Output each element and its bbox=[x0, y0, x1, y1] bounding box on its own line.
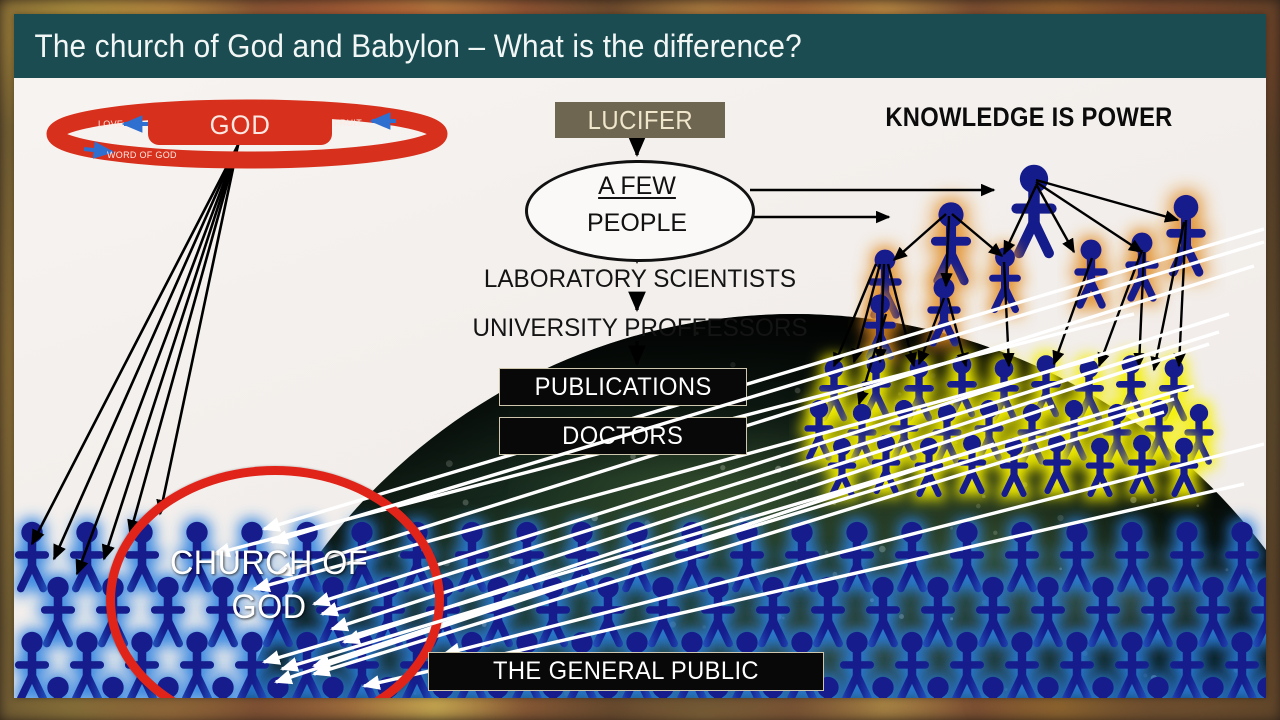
a-few-people-line2: PEOPLE bbox=[525, 209, 749, 238]
step-laboratory-scientists: LABORATORY SCIENTISTS bbox=[33, 265, 1247, 294]
step-university-proffessors: UNIVERSITY PROFFESSORS bbox=[33, 314, 1247, 343]
ring-label-love: LOVE bbox=[98, 119, 123, 129]
slide-content-area: CHURCH OF GOD GOD LOVE FRUIT WORD OF GOD… bbox=[14, 14, 1266, 698]
publications-box: PUBLICATIONS bbox=[499, 368, 747, 406]
a-few-underlined: A FEW bbox=[598, 172, 676, 200]
ring-label-word-of-god: WORD OF GOD bbox=[107, 150, 177, 160]
a-few-people-line1: A FEW bbox=[525, 172, 749, 201]
ring-label-fruit: FRUIT bbox=[334, 118, 362, 128]
page-title: The church of God and Babylon – What is … bbox=[14, 28, 802, 65]
church-label-line2: GOD bbox=[160, 586, 379, 630]
publications-label: PUBLICATIONS bbox=[534, 373, 711, 402]
church-label-line1: CHURCH OF bbox=[160, 542, 379, 586]
slide-title-bar: The church of God and Babylon – What is … bbox=[14, 14, 1266, 78]
god-center-label: GOD bbox=[209, 110, 270, 141]
knowledge-is-power-heading: KNOWLEDGE IS POWER bbox=[879, 102, 1178, 133]
general-public-box: THE GENERAL PUBLIC bbox=[428, 652, 824, 691]
doctors-box: DOCTORS bbox=[499, 417, 747, 455]
church-of-god-label: CHURCH OF GOD bbox=[160, 542, 379, 629]
general-public-label: THE GENERAL PUBLIC bbox=[493, 657, 759, 686]
lucifer-label: LUCIFER bbox=[587, 105, 693, 136]
lucifer-box: LUCIFER bbox=[555, 102, 725, 138]
god-center-box: GOD bbox=[148, 105, 332, 145]
slide: CHURCH OF GOD GOD LOVE FRUIT WORD OF GOD… bbox=[0, 0, 1280, 720]
doctors-label: DOCTORS bbox=[562, 422, 683, 451]
